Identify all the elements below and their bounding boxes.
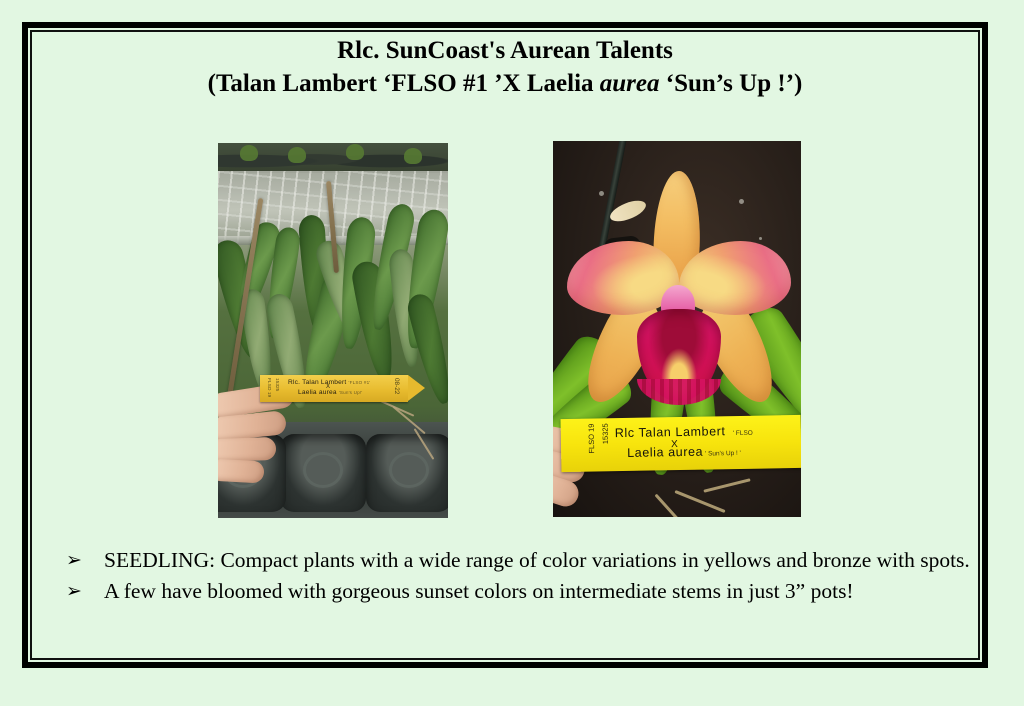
plant-tag-right: FLSO 19 15325 Rlc Talan Lambert ' FLSO X… xyxy=(561,415,801,472)
list-item: ➢ SEEDLING: Compact plants with a wide r… xyxy=(62,546,974,575)
plastic-pot xyxy=(366,434,448,512)
bullet-arrow-icon: ➢ xyxy=(62,577,104,606)
title-species-italic: aurea xyxy=(600,70,660,97)
tag-right-line-2: Laelia aurea ' Sun's Up ! ' xyxy=(627,444,741,460)
slide-canvas: Rlc. SunCoast's Aurean Talents (Talan La… xyxy=(0,0,1024,706)
tray-grate xyxy=(218,502,448,518)
tag-left-vertical-1: FLSO 19 xyxy=(266,378,271,397)
list-item-text: A few have bloomed with gorgeous sunset … xyxy=(104,577,974,606)
bullet-arrow-icon: ➢ xyxy=(62,546,104,575)
flower-lip xyxy=(637,309,721,401)
list-item-text: SEEDLING: Compact plants with a wide ran… xyxy=(104,546,974,575)
list-item: ➢ A few have bloomed with gorgeous sunse… xyxy=(62,577,974,606)
background-speck xyxy=(599,191,604,196)
tag-left-vertical-2: 15325 xyxy=(274,378,279,391)
title-line-2: (Talan Lambert ‘FLSO #1 ’X Laelia aurea … xyxy=(40,67,970,100)
tag-right-vertical-1: FLSO 19 xyxy=(587,423,597,453)
title-line-2-post: ‘Sun’s Up !’) xyxy=(660,70,803,97)
background-pot-row xyxy=(218,143,448,173)
description-list: ➢ SEEDLING: Compact plants with a wide r… xyxy=(62,546,974,608)
photo-orchid-bloom: FLSO 19 15325 Rlc Talan Lambert ' FLSO X… xyxy=(553,141,801,517)
plant-tag-left: FLSO 19 15325 08-22 Rlc. Talan Lambert '… xyxy=(260,375,408,402)
background-speck xyxy=(759,237,762,240)
background-speck xyxy=(739,199,744,204)
tag-right-vertical-2: 15325 xyxy=(601,423,610,444)
tag-left-vertical-date: 08-22 xyxy=(393,378,400,394)
title-line-1: Rlc. SunCoast's Aurean Talents xyxy=(40,34,970,67)
title-line-2-pre: (Talan Lambert ‘FLSO #1 ’X Laelia xyxy=(208,70,600,97)
tag-left-line-2: Laelia aurea 'Sun's Up!' xyxy=(298,389,362,396)
tag-right-line-1: Rlc Talan Lambert ' FLSO xyxy=(615,424,753,440)
photo-seedling-flat: FLSO 19 15325 08-22 Rlc. Talan Lambert '… xyxy=(218,143,448,518)
page-title: Rlc. SunCoast's Aurean Talents (Talan La… xyxy=(40,34,970,100)
